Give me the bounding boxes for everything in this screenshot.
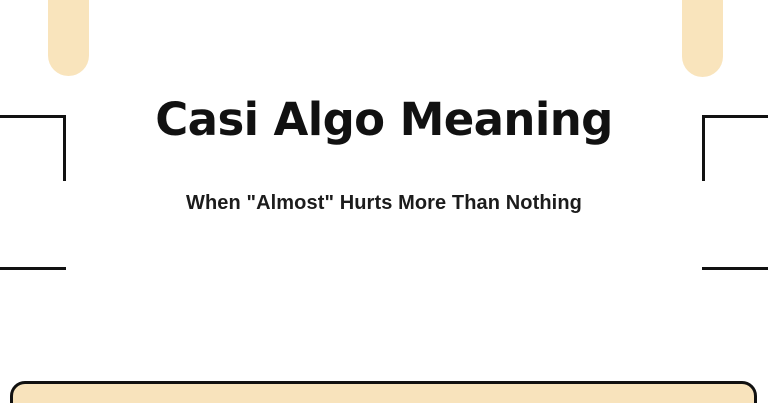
headline-block: Casi Algo Meaning When "Almost" Hurts Mo…	[0, 96, 768, 215]
page-title: Casi Algo Meaning	[0, 96, 768, 145]
bracket-bottom-left-horizontal-rule	[0, 267, 66, 270]
bottom-callout-card	[10, 381, 757, 403]
decorative-pill-right	[682, 0, 723, 77]
hero-banner: Casi Algo Meaning When "Almost" Hurts Mo…	[0, 0, 768, 403]
decorative-pill-left	[48, 0, 89, 76]
bracket-bottom-right-horizontal-rule	[702, 267, 768, 270]
page-subtitle: When "Almost" Hurts More Than Nothing	[0, 145, 768, 215]
